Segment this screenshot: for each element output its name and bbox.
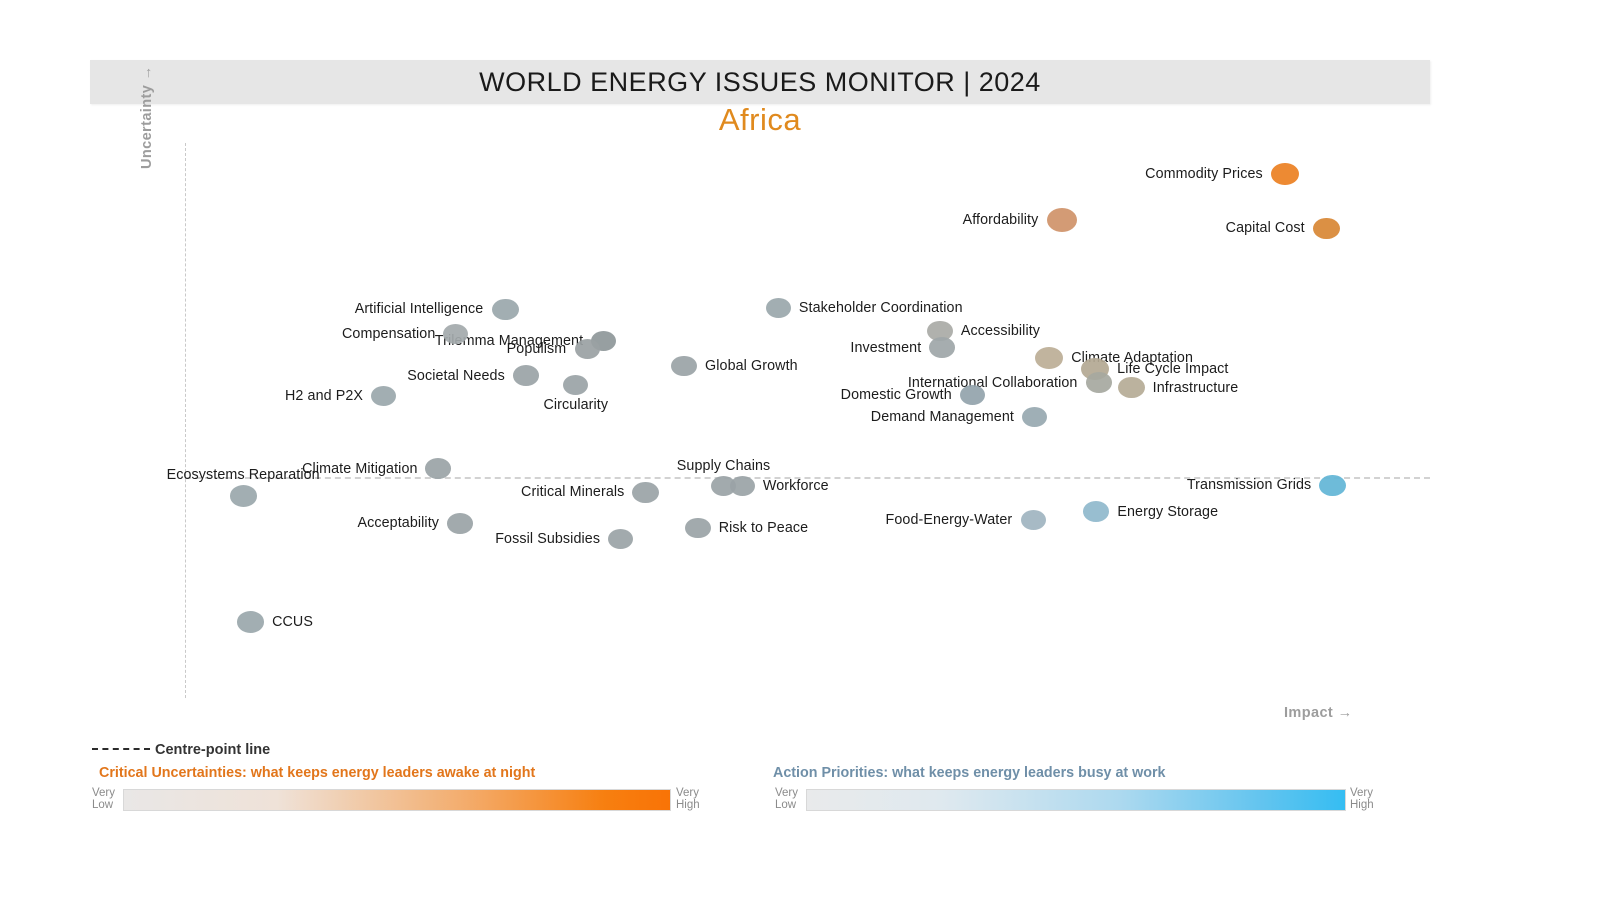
action-scale-low: Very Low bbox=[775, 788, 798, 811]
uncertainty-scale-low: Very Low bbox=[92, 788, 115, 811]
uncertainty-scale-high-line2: High bbox=[676, 800, 700, 812]
uncertainty-scale-high: Very High bbox=[676, 788, 700, 811]
legend-centre-point: Centre-point line bbox=[92, 742, 270, 758]
uncertainty-gradient-bar bbox=[123, 789, 671, 811]
uncertainty-scale-low-line1: Very bbox=[92, 788, 115, 800]
action-scale-low-line2: Low bbox=[775, 800, 798, 812]
uncertainty-scale-high-line1: Very bbox=[676, 788, 700, 800]
chart-page: WORLD ENERGY ISSUES MONITOR | 2024 Afric… bbox=[0, 0, 1600, 900]
dashed-line-icon bbox=[92, 748, 150, 750]
action-scale-low-line1: Very bbox=[775, 788, 798, 800]
chart-legend: Centre-point line Critical Uncertainties… bbox=[0, 0, 1600, 900]
legend-action-title: Action Priorities: what keeps energy lea… bbox=[773, 765, 1166, 781]
legend-uncertainty-title: Critical Uncertainties: what keeps energ… bbox=[99, 765, 535, 781]
action-scale-high: Very High bbox=[1350, 788, 1374, 811]
action-scale-high-line1: Very bbox=[1350, 788, 1374, 800]
action-scale-high-line2: High bbox=[1350, 800, 1374, 812]
action-gradient-bar bbox=[806, 789, 1346, 811]
legend-centre-point-label: Centre-point line bbox=[155, 742, 270, 758]
uncertainty-scale-low-line2: Low bbox=[92, 800, 115, 812]
